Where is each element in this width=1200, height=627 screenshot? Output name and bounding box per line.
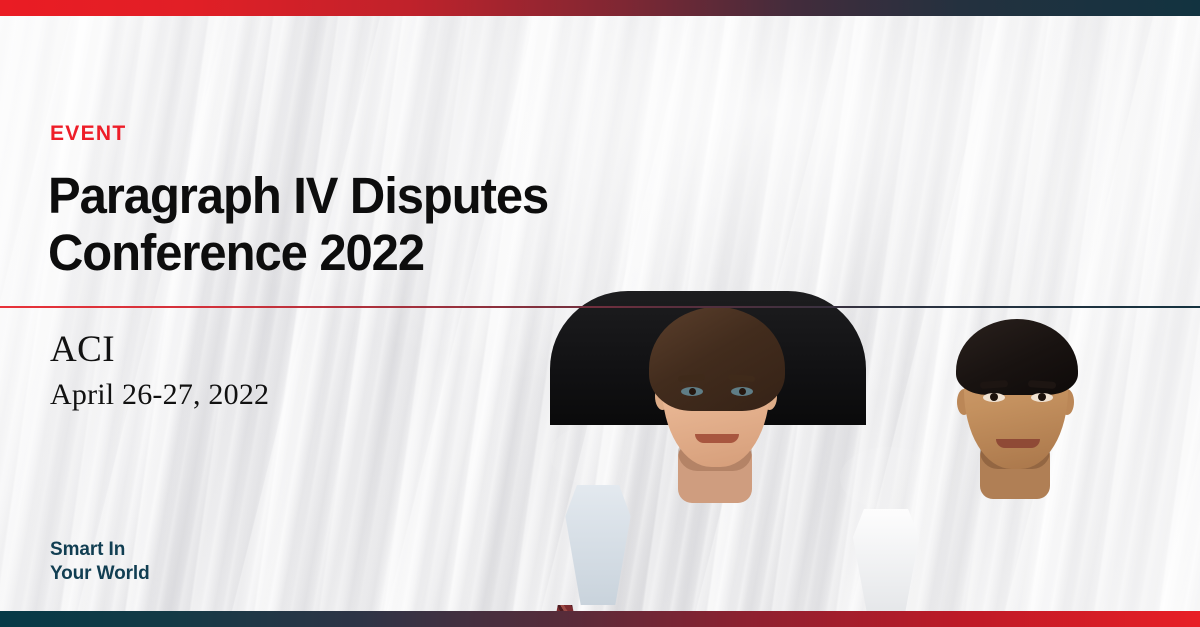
event-meta: ACI April 26-27, 2022 [50, 328, 269, 414]
banner-content: EVENT Paragraph IV Disputes Conference 2… [0, 0, 1200, 627]
page-title: Paragraph IV Disputes Conference 2022 [48, 167, 720, 281]
brand-tagline-line-1: Smart In [50, 538, 150, 562]
top-gradient-bar [0, 0, 1200, 16]
page-title-line-1: Paragraph IV Disputes [48, 167, 720, 224]
brand-tagline-line-2: Your World [50, 562, 150, 586]
brand-tagline: Smart In Your World [50, 538, 150, 586]
event-type-label: EVENT [50, 123, 127, 144]
event-banner: EVENT Paragraph IV Disputes Conference 2… [0, 0, 1200, 627]
event-date: April 26-27, 2022 [50, 375, 269, 414]
event-organization: ACI [50, 328, 269, 372]
bottom-gradient-bar [0, 611, 1200, 627]
page-title-line-2: Conference 2022 [48, 224, 720, 281]
